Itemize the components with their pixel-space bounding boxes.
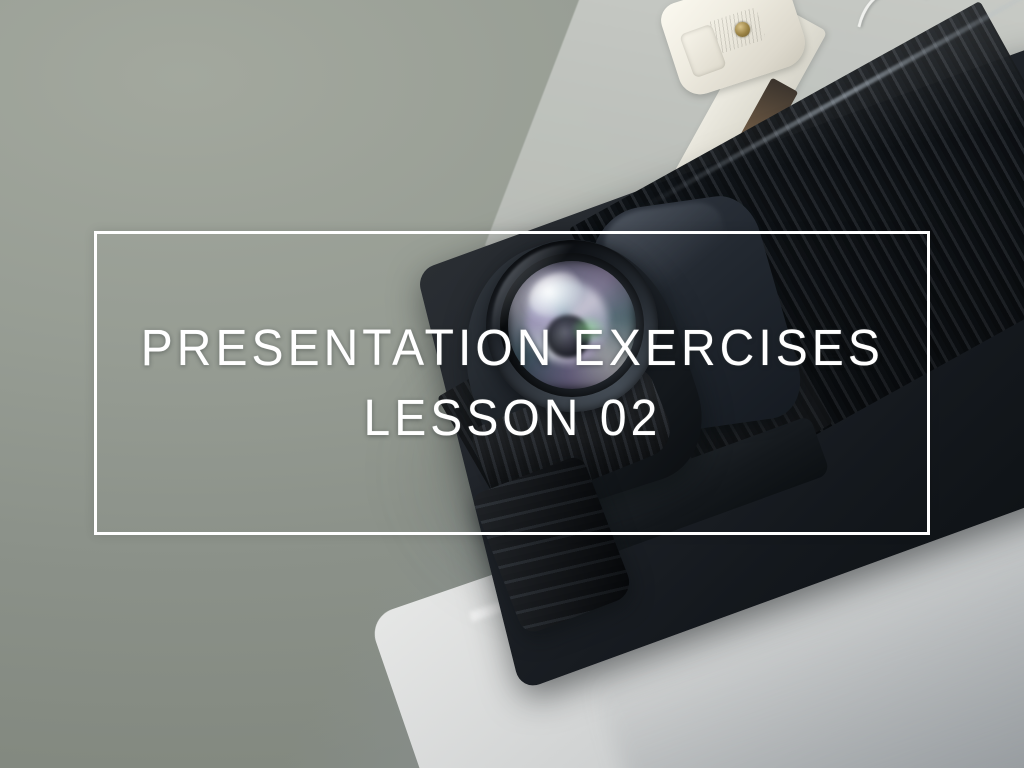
page-title: Presentation Exercises bbox=[140, 320, 883, 376]
page-subtitle: Lesson 02 bbox=[363, 390, 661, 446]
title-block: Presentation Exercises Lesson 02 bbox=[94, 231, 930, 535]
title-slide: ✱ bbox=[0, 0, 1024, 768]
screw-icon bbox=[735, 22, 750, 37]
